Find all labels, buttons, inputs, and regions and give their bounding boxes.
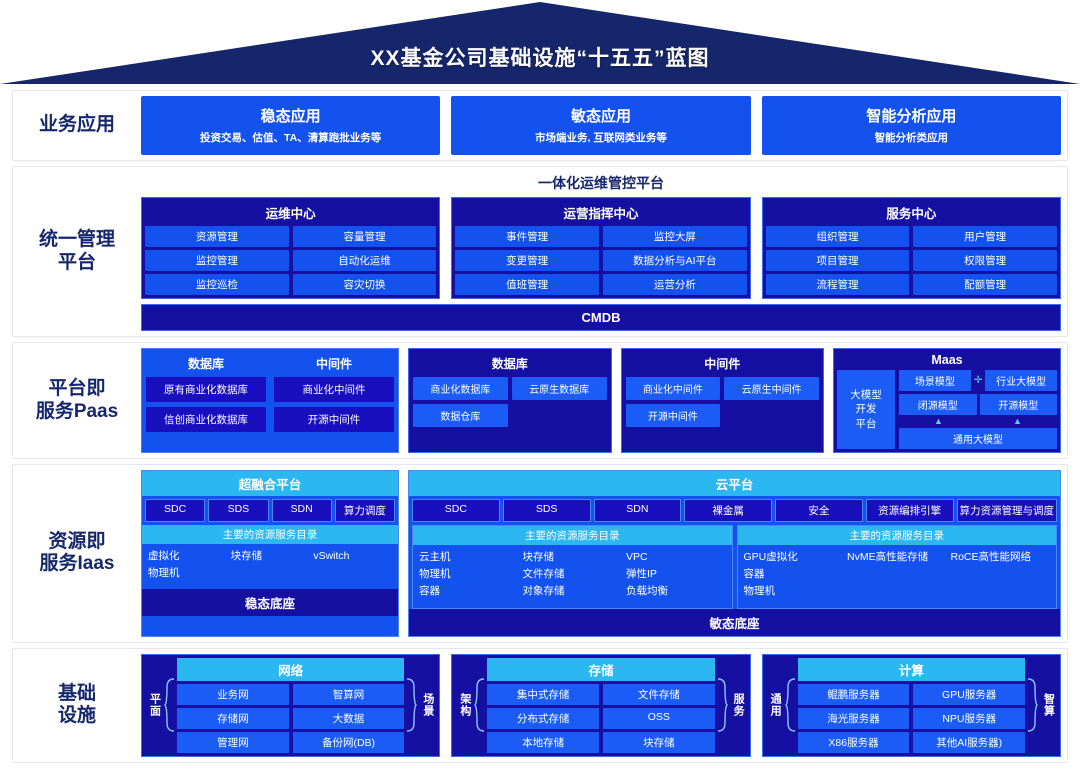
cell-row: 事件管理 监控大屏 [455,226,746,247]
maas-chip-open-model[interactable]: 开源模型 [980,394,1058,415]
paas-group-middleware-cloud: 中间件 商业化中间件 云原生中间件 开源中间件 [626,353,820,448]
center-cell[interactable]: 监控管理 [145,250,289,271]
paas-chip[interactable]: 云原生数据库 [512,377,607,400]
infra-cell[interactable]: 块存储 [603,732,715,753]
title-banner: XX基金公司基础设施“十五五”蓝图 [0,0,1080,84]
catalog-column: VPC 弹性IP 负载均衡 [626,550,726,600]
brace-left-icon [785,658,796,753]
cloud-catalog-ai: 主要的资源服务目录 GPU虚拟化 容器 物理机 NvME高性能存储 [737,525,1058,609]
infra-left-label: 平面 [146,658,162,753]
catalog-header: 主要的资源服务目录 [413,526,732,545]
row-iaas: 资源即 服务Iaas 超融合平台 SDC SDS SDN 算力调度 主要的资源服… [12,464,1068,643]
hci-tech-row: SDC SDS SDN 算力调度 [142,496,398,525]
row-label-business: 业务应用 [13,91,141,160]
catalog-item: 物理机 [419,567,519,582]
center-title: 服务中心 [766,201,1057,226]
infra-cell[interactable]: NPU服务器 [913,708,1025,729]
group-title: 中间件 [626,353,820,377]
hci-header: 超融合平台 [142,471,398,496]
infra-cell[interactable]: 管理网 [177,732,289,753]
row-business-application: 业务应用 稳态应用 投资交易、估值、TA、清算跑批业务等 敏态应用 市场端业务,… [12,90,1068,161]
catalog-item: VPC [626,550,726,565]
center-cell[interactable]: 值班管理 [455,274,599,295]
blueprint-diagram: XX基金公司基础设施“十五五”蓝图 业务应用 稳态应用 投资交易、估值、TA、清… [0,0,1080,608]
tech-chip-compute-resource-mgmt[interactable]: 算力资源管理与调度 [957,499,1058,522]
tech-chip-sdc[interactable]: SDC [412,499,500,522]
row-unified-management-platform: 统一管理 平台 一体化运维管控平台 运维中心 资源管理 容量管理 监控管理 [12,166,1068,337]
infra-cell[interactable]: 业务网 [177,684,289,705]
catalog-item: RoCE高性能网络 [951,550,1051,565]
cloud-platform-card: 云平台 SDC SDS SDN 裸金属 安全 资源编排引擎 算力资源管理与调度 [408,470,1061,637]
infra-card-compute: 通用 计算 鲲鹏服务器 GPU服务器 [762,654,1061,757]
unified-platform-title: 一体化运维管控平台 [141,173,1061,193]
infra-row: 集中式存储 文件存储 [487,684,714,705]
app-title: 稳态应用 [147,105,434,126]
center-card-ops[interactable]: 运维中心 资源管理 容量管理 监控管理 自动化运维 监控巡检 [141,197,440,299]
center-cell[interactable]: 运营分析 [603,274,747,295]
infra-row: 鲲鹏服务器 GPU服务器 [798,684,1025,705]
center-cell[interactable]: 变更管理 [455,250,599,271]
catalog-item: 块存储 [231,549,310,564]
app-card-stable[interactable]: 稳态应用 投资交易、估值、TA、清算跑批业务等 [141,96,440,155]
infra-card-network: 平面 网络 业务网 智算网 [141,654,440,757]
infra-right-label: 服务 [730,658,746,753]
center-cell[interactable]: 数据分析与AI平台 [603,250,747,271]
center-card-operations-command[interactable]: 运营指挥中心 事件管理 监控大屏 变更管理 数据分析与AI平台 [451,197,750,299]
paas-item[interactable]: 信创商业化数据库 [146,407,266,432]
maas-chip-closed-model[interactable]: 闭源模型 [899,394,977,415]
infra-row: X86服务器 其他AI服务器) [798,732,1025,753]
center-cell[interactable]: 监控巡检 [145,274,289,295]
infra-cell[interactable]: X86服务器 [798,732,910,753]
center-cell[interactable]: 配额管理 [913,274,1057,295]
center-title: 运维中心 [145,201,436,226]
infra-row: 本地存储 块存储 [487,732,714,753]
brace-right-icon [1027,658,1038,753]
catalog-item: 对象存储 [523,584,623,599]
catalog-column: 块存储 文件存储 对象存储 [523,550,623,600]
app-subtitle: 市场端业务, 互联网类业务等 [457,130,744,145]
center-cell[interactable]: 容量管理 [293,226,437,247]
infra-cell[interactable]: 鲲鹏服务器 [798,684,910,705]
arrow-up-icon: ▲ [1013,418,1022,425]
catalog-item: NvME高性能存储 [847,550,947,565]
plus-icon: ✛ [974,375,982,386]
infra-right-label: 场景 [419,658,435,753]
infra-cell[interactable]: 备份网(DB) [293,732,405,753]
catalog-column: GPU虚拟化 容器 物理机 [744,550,844,600]
paas-cloudnative-database: 数据库 商业化数据库 云原生数据库 数据仓库 [408,348,612,453]
catalog-item: 物理机 [744,584,844,599]
catalog-item: GPU虚拟化 [744,550,844,565]
center-cell[interactable]: 用户管理 [913,226,1057,247]
app-card-agile[interactable]: 敏态应用 市场端业务, 互联网类业务等 [451,96,750,155]
infra-row: 管理网 备份网(DB) [177,732,404,753]
center-card-service[interactable]: 服务中心 组织管理 用户管理 项目管理 权限管理 流程管理 [762,197,1061,299]
row-paas: 平台即 服务Paas 数据库 原有商业化数据库 信创商业化数据库 中间件 商业化… [12,342,1068,459]
catalog-item: vSwitch [313,549,392,564]
cell-row: 监控巡检 容灾切换 [145,274,436,295]
catalog-item: 虚拟化 [148,549,227,564]
center-cell[interactable]: 资源管理 [145,226,289,247]
center-cell[interactable]: 监控大屏 [603,226,747,247]
maas-card: Maas 大模型 开发 平台 场景模型 ✛ 行业大模型 闭源模型 [833,348,1061,453]
group-title: 数据库 [413,353,607,377]
tech-chip-sds[interactable]: SDS [208,499,268,522]
infra-card-storage: 架构 存储 集中式存储 文件存储 [451,654,750,757]
row-label-paas: 平台即 服务Paas [13,343,141,458]
tech-chip-sds[interactable]: SDS [503,499,591,522]
app-title: 敏态应用 [457,105,744,126]
maas-chip-scene-model[interactable]: 场景模型 [899,370,971,391]
cell-row: 流程管理 配额管理 [766,274,1057,295]
catalog-column: 虚拟化 物理机 [148,549,227,581]
paas-cloudnative-middleware: 中间件 商业化中间件 云原生中间件 开源中间件 [621,348,825,453]
center-cell[interactable]: 容灾切换 [293,274,437,295]
tech-chip-compute-scheduling[interactable]: 算力调度 [335,499,395,522]
catalog-column: 云主机 物理机 容器 [419,550,519,600]
paas-group-middleware: 中间件 商业化中间件 开源中间件 [274,353,394,448]
row-label-unified: 统一管理 平台 [13,167,141,336]
infra-row: 业务网 智算网 [177,684,404,705]
cell-row: 监控管理 自动化运维 [145,250,436,271]
center-title: 运营指挥中心 [455,201,746,226]
group-title: 数据库 [146,353,266,377]
infra-cell[interactable]: 大数据 [293,708,405,729]
cell-row: 组织管理 用户管理 [766,226,1057,247]
center-cell[interactable]: 组织管理 [766,226,910,247]
center-cell[interactable]: 自动化运维 [293,250,437,271]
catalog-item: 块存储 [523,550,623,565]
tech-chip-orchestration-engine[interactable]: 资源编排引擎 [866,499,954,522]
tech-chip-sdc[interactable]: SDC [145,499,205,522]
hci-catalog-header: 主要的资源服务目录 [142,525,398,544]
cloud-header: 云平台 [409,471,1060,496]
app-card-intelligent-analysis[interactable]: 智能分析应用 智能分析类应用 [762,96,1061,155]
center-cell[interactable]: 事件管理 [455,226,599,247]
paas-item[interactable]: 开源中间件 [274,407,394,432]
infra-cell[interactable]: 智算网 [293,684,405,705]
catalog-header: 主要的资源服务目录 [738,526,1057,545]
paas-chip[interactable]: 商业化中间件 [626,377,721,400]
catalog-item: 云主机 [419,550,519,565]
group-title: 中间件 [274,353,394,377]
infra-cell[interactable]: GPU服务器 [913,684,1025,705]
paas-traditional-group: 数据库 原有商业化数据库 信创商业化数据库 中间件 商业化中间件 开源中间件 [141,348,399,453]
hci-platform-card: 超融合平台 SDC SDS SDN 算力调度 主要的资源服务目录 虚拟化 物理机 [141,470,399,637]
infra-left-label: 架构 [456,658,472,753]
paas-chip[interactable]: 云原生中间件 [724,377,819,400]
center-cell[interactable]: 流程管理 [766,274,910,295]
paas-group-database-cloud: 数据库 商业化数据库 云原生数据库 数据仓库 [413,353,607,448]
center-cell[interactable]: 项目管理 [766,250,910,271]
maas-title: Maas [837,352,1057,370]
catalog-column: vSwitch [313,549,392,581]
infra-cell[interactable]: OSS [603,708,715,729]
infra-left-label: 通用 [767,658,783,753]
infra-cell[interactable]: 集中式存储 [487,684,599,705]
catalog-item: 物理机 [148,566,227,581]
brace-right-icon [717,658,728,753]
catalog-column: NvME高性能存储 [847,550,947,600]
cloud-catalog-general: 主要的资源服务目录 云主机 物理机 容器 块存储 文 [412,525,733,609]
infra-cell[interactable]: 文件存储 [603,684,715,705]
infra-cell[interactable]: 分布式存储 [487,708,599,729]
page-title: XX基金公司基础设施“十五五”蓝图 [0,42,1080,72]
cloud-base-label: 敏态底座 [409,609,1060,636]
maas-dev-platform[interactable]: 大模型 开发 平台 [837,370,895,449]
brace-left-icon [164,658,175,753]
infra-cell[interactable]: 存储网 [177,708,289,729]
catalog-item: 负载均衡 [626,584,726,599]
catalog-column: 块存储 [231,549,310,581]
infra-cell[interactable]: 其他AI服务器) [913,732,1025,753]
catalog-item: 容器 [419,584,519,599]
paas-group-database: 数据库 原有商业化数据库 信创商业化数据库 [146,353,266,448]
cell-row: 变更管理 数据分析与AI平台 [455,250,746,271]
paas-item[interactable]: 商业化中间件 [274,377,394,402]
infra-row: 存储网 大数据 [177,708,404,729]
infra-cell[interactable]: 本地存储 [487,732,599,753]
infra-header: 存储 [487,658,714,681]
tech-chip-security[interactable]: 安全 [775,499,863,522]
catalog-column: RoCE高性能网络 [951,550,1051,600]
paas-chip[interactable]: 商业化数据库 [413,377,508,400]
arrow-group: ▲ ▲ [899,418,1057,425]
paas-chip[interactable]: 数据仓库 [413,404,508,427]
maas-chip-general-model[interactable]: 通用大模型 [899,428,1057,449]
infra-header: 网络 [177,658,404,681]
infra-header: 计算 [798,658,1025,681]
row-label-infrastructure: 基础 设施 [13,649,141,762]
infra-row: 分布式存储 OSS [487,708,714,729]
cloud-tech-row: SDC SDS SDN 裸金属 安全 资源编排引擎 算力资源管理与调度 [409,496,1060,525]
tech-chip-sdn[interactable]: SDN [594,499,682,522]
maas-chip-industry-model[interactable]: 行业大模型 [985,370,1057,391]
brace-left-icon [474,658,485,753]
tech-chip-bare-metal[interactable]: 裸金属 [684,499,772,522]
cell-row: 值班管理 运营分析 [455,274,746,295]
arrow-up-icon: ▲ [934,418,943,425]
paas-chip[interactable]: 开源中间件 [626,404,721,427]
tech-chip-sdn[interactable]: SDN [272,499,332,522]
app-subtitle: 投资交易、估值、TA、清算跑批业务等 [147,130,434,145]
infra-right-label: 智算 [1040,658,1056,753]
cell-row: 项目管理 权限管理 [766,250,1057,271]
app-subtitle: 智能分析类应用 [768,130,1055,145]
brace-right-icon [406,658,417,753]
center-cell[interactable]: 权限管理 [913,250,1057,271]
row-label-iaas: 资源即 服务Iaas [13,465,141,642]
catalog-item: 文件存储 [523,567,623,582]
infra-cell[interactable]: 海光服务器 [798,708,910,729]
app-title: 智能分析应用 [768,105,1055,126]
catalog-item: 容器 [744,567,844,582]
infra-row: 海光服务器 NPU服务器 [798,708,1025,729]
cell-row: 资源管理 容量管理 [145,226,436,247]
row-infrastructure: 基础 设施 平面 网络 业务网 智算网 [12,648,1068,763]
catalog-item: 弹性IP [626,567,726,582]
hci-base-label: 稳态底座 [142,589,398,616]
paas-item[interactable]: 原有商业化数据库 [146,377,266,402]
cmdb-bar[interactable]: CMDB [141,304,1061,331]
